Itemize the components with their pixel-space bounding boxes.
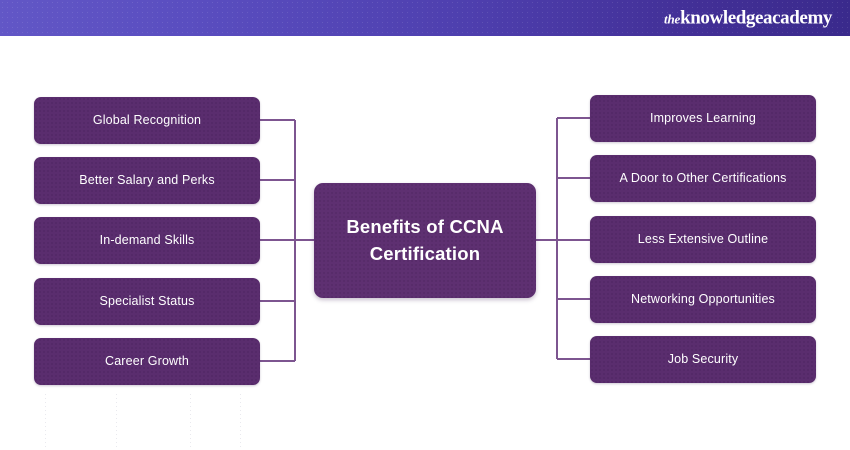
right-branch-node-5[interactable]: Job Security: [590, 336, 816, 383]
guide-line: [190, 394, 191, 450]
center-node-title: Benefits of CCNA Certification: [324, 214, 526, 268]
right-branch-node-1[interactable]: Improves Learning: [590, 95, 816, 142]
left-branch-label-5: Career Growth: [105, 353, 189, 370]
brand-logo-prefix: the: [664, 12, 680, 27]
center-node[interactable]: Benefits of CCNA Certification: [314, 183, 536, 298]
guide-line: [45, 394, 46, 450]
right-branch-label-4: Networking Opportunities: [631, 291, 775, 308]
left-branch-node-1[interactable]: Global Recognition: [34, 97, 260, 144]
right-branch-node-4[interactable]: Networking Opportunities: [590, 276, 816, 323]
left-branch-node-5[interactable]: Career Growth: [34, 338, 260, 385]
brand-logo[interactable]: theknowledgeacademy: [664, 9, 832, 28]
guide-line: [116, 394, 117, 450]
diagram-canvas: Global Recognition Better Salary and Per…: [0, 36, 850, 450]
left-branch-node-2[interactable]: Better Salary and Perks: [34, 157, 260, 204]
guide-line: [240, 394, 241, 450]
left-branch-label-2: Better Salary and Perks: [79, 172, 214, 189]
right-branch-node-2[interactable]: A Door to Other Certifications: [590, 155, 816, 202]
right-branch-label-5: Job Security: [668, 351, 739, 368]
left-branch-node-4[interactable]: Specialist Status: [34, 278, 260, 325]
left-branch-label-3: In-demand Skills: [100, 232, 195, 249]
left-branch-node-3[interactable]: In-demand Skills: [34, 217, 260, 264]
brand-logo-name: knowledgeacademy: [680, 8, 832, 29]
right-branch-label-1: Improves Learning: [650, 110, 756, 127]
left-branch-label-1: Global Recognition: [93, 112, 201, 129]
right-branch-label-2: A Door to Other Certifications: [619, 170, 786, 187]
page-header: theknowledgeacademy: [0, 0, 850, 36]
background-guides: [0, 394, 300, 450]
left-branch-label-4: Specialist Status: [100, 293, 195, 310]
right-branch-node-3[interactable]: Less Extensive Outline: [590, 216, 816, 263]
right-branch-label-3: Less Extensive Outline: [638, 231, 768, 248]
